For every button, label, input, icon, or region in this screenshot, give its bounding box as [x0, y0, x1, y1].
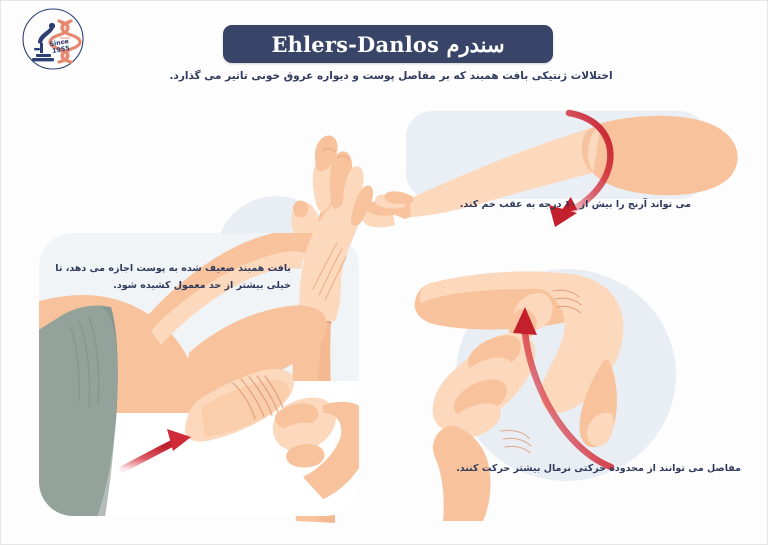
infographic-page: Armin Pathobiology Lab	[0, 0, 768, 545]
elbow-caption: می تواند آرنج را بیش از ۱۰ درجه به عقب خ…	[431, 197, 691, 214]
skin-stretch-caption-line2: خیلی بیشتر از حد معمول کشیده شود.	[41, 278, 291, 295]
elbow-panel-backdrop	[406, 111, 706, 199]
page-subtitle: اختلالات ژنتیکی بافت همبند که بر مفاصل پ…	[151, 69, 631, 85]
svg-text:Armin Pathobiology Lab: Armin Pathobiology Lab	[7, 3, 11, 5]
thumb-panel-backdrop	[456, 269, 676, 481]
title-banner: سندرم Ehlers-Danlos	[223, 25, 553, 63]
skin-stretch-caption: بافت همبند ضعیف شده به پوست اجازه می دهد…	[41, 261, 291, 294]
skin-stretch-caption-line1: بافت همبند ضعیف شده به پوست اجازه می دهد…	[41, 261, 291, 278]
page-title: سندرم Ehlers-Danlos	[271, 32, 504, 57]
armin-pathobiology-lab-logo: Armin Pathobiology Lab	[7, 3, 99, 75]
thumb-caption: مفاصل می توانند از محدوده حرکتی نرمال بی…	[456, 461, 741, 478]
